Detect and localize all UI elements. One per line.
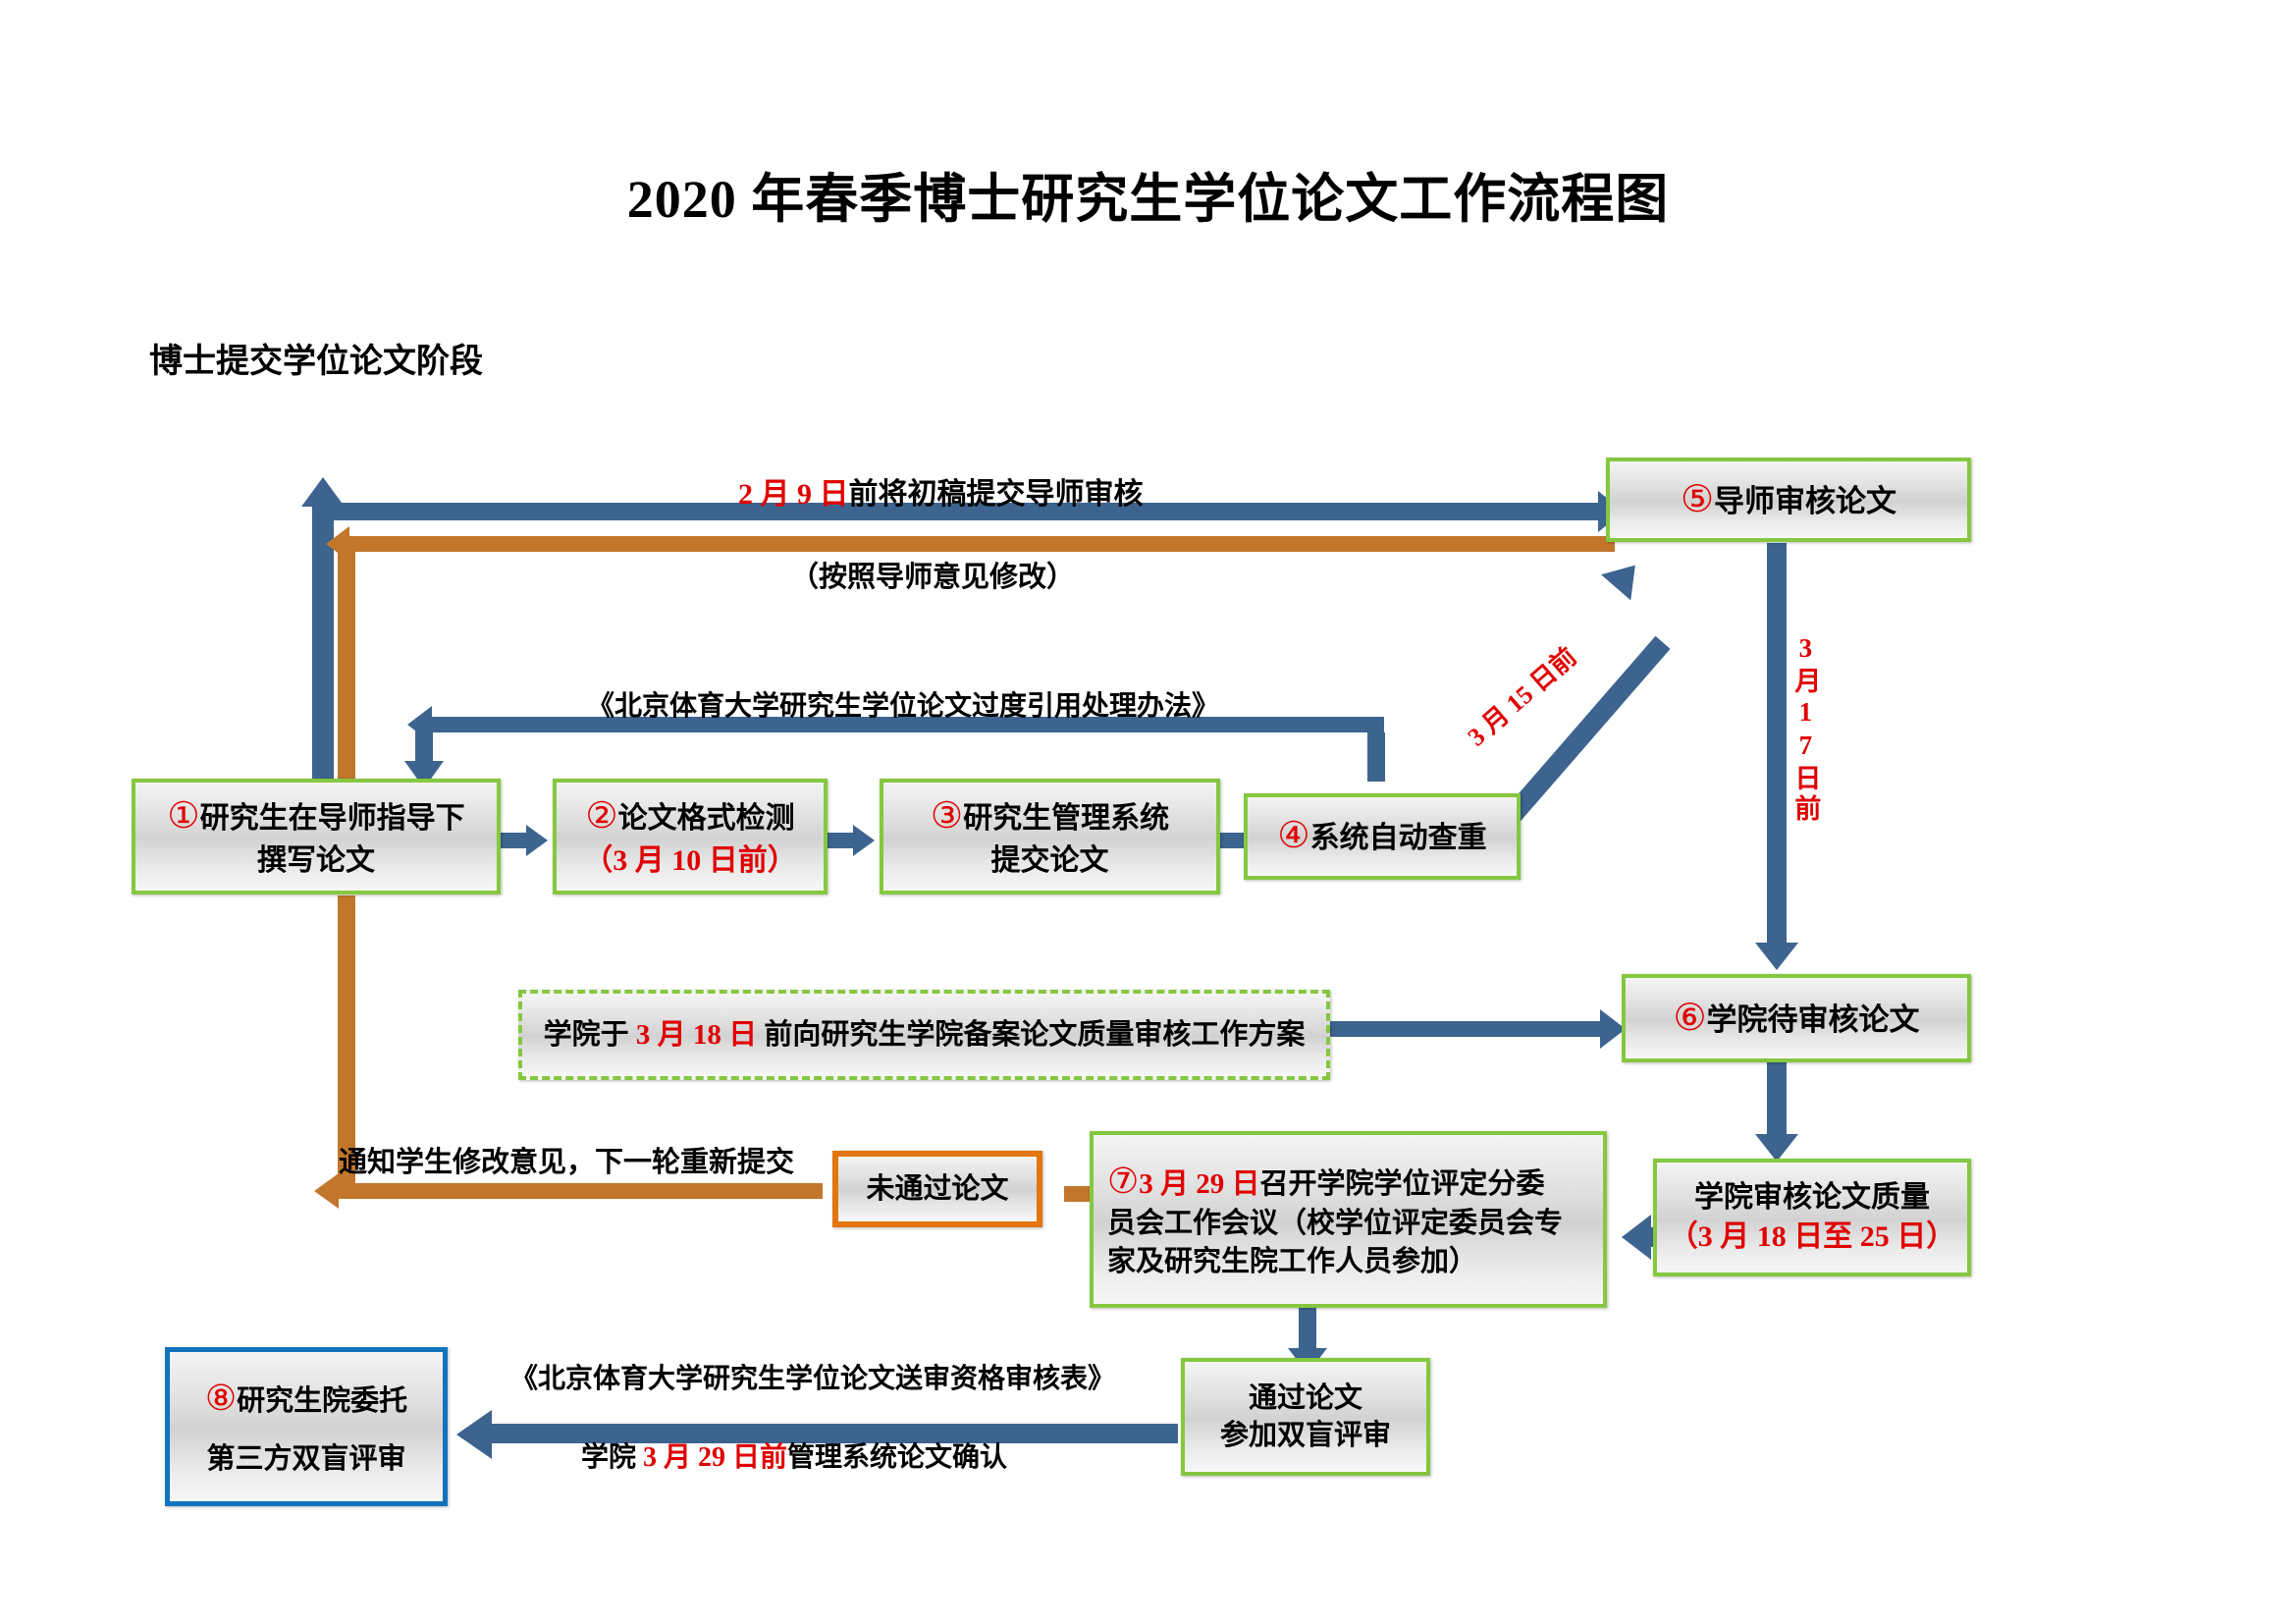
node-8-marker: ⑧ xyxy=(205,1379,237,1418)
node-failed-thesis[interactable]: 未通过论文 xyxy=(832,1151,1042,1227)
node-8-label-1: 研究生院委托 xyxy=(237,1385,407,1417)
node-7-line1: ⑦3 月 29 日召开学院学位评定分委 xyxy=(1107,1159,1545,1206)
arrow-n6-to-quality-head xyxy=(1755,1134,1798,1162)
node-7-line2: 员会工作会议（校学位评定委员会专 xyxy=(1107,1205,1563,1242)
node-passed-line2: 参加双盲评审 xyxy=(1220,1417,1391,1454)
node-1-label-1: 研究生在导师指导下 xyxy=(200,802,465,835)
label-review-form: 《北京体育大学研究生学位论文送审资格审核表》 xyxy=(510,1357,1115,1396)
label-mar17-deadline: 3月17日前 xyxy=(1791,633,1819,825)
node-filing-post: 前向研究生学院备案论文质量审核工作方案 xyxy=(757,1019,1305,1051)
node-passed-line1: 通过论文 xyxy=(1249,1380,1362,1417)
arrow-advisor-revise-horizontal xyxy=(348,536,1615,552)
node-1-marker: ① xyxy=(167,796,199,837)
node-5-text: ⑤导师审核论文 xyxy=(1681,475,1896,524)
node-3-marker: ③ xyxy=(931,796,963,837)
arrow-failed-to-n1-head xyxy=(314,1173,339,1209)
node-2-label-1: 论文格式检测 xyxy=(618,802,795,835)
node-filing-plan[interactable]: 学院于 3 月 18 日 前向研究生学院备案论文质量审核工作方案 xyxy=(518,990,1330,1080)
node-failed-label: 未通过论文 xyxy=(866,1170,1008,1208)
arrow-n5-to-n6-head xyxy=(1755,943,1798,970)
node-filing-date: 3 月 18 日 xyxy=(636,1019,757,1051)
node-7-date: 3 月 29 日 xyxy=(1139,1168,1259,1200)
node-1-line1: ①研究生在导师指导下 xyxy=(167,793,464,841)
node-4-label: 系统自动查重 xyxy=(1310,822,1487,854)
node-6-label: 学院待审核论文 xyxy=(1707,1002,1920,1037)
arrow-passed-to-n8-head xyxy=(456,1410,492,1459)
node-7-line3: 家及研究生院工作人员参加） xyxy=(1107,1243,1477,1280)
arrow-n5-to-n6-shaft xyxy=(1767,543,1787,953)
node-filing-pre: 学院于 xyxy=(544,1019,636,1051)
flowchart-canvas: 2020 年春季博士研究生学位论文工作流程图 博士提交学位论文阶段 xyxy=(0,0,2296,1624)
node-2-format-check[interactable]: ②论文格式检测 （3 月 10 日前） xyxy=(553,779,828,894)
arrow-n2-to-n3-head xyxy=(853,825,875,856)
arrow-over-citation-riser xyxy=(1367,732,1385,782)
node-2-deadline: （3 月 10 日前） xyxy=(583,841,797,881)
arrow-over-citation-dropline xyxy=(415,727,433,766)
node-3-line2: 提交论文 xyxy=(991,841,1109,881)
arrow-blue-left-uphead xyxy=(301,477,345,507)
node-6-marker: ⑥ xyxy=(1673,998,1706,1039)
label-confirm-pre: 学院 xyxy=(581,1442,643,1473)
arrow-failed-to-n1-horizontal xyxy=(338,1183,823,1199)
arrow-n1-to-n2-shaft xyxy=(501,833,528,848)
node-4-text: ④系统自动查重 xyxy=(1277,813,1486,861)
node-8-line1: ⑧研究生院委托 xyxy=(205,1376,407,1423)
node-7-committee-meeting[interactable]: ⑦3 月 29 日召开学院学位评定分委 员会工作会议（校学位评定委员会专 家及研… xyxy=(1090,1131,1607,1308)
node-7-marker: ⑦ xyxy=(1107,1162,1139,1201)
node-3-line1: ③研究生管理系统 xyxy=(931,793,1169,841)
label-mar15-deadline: 3 月 15 日前 xyxy=(1459,638,1583,753)
node-8-blind-review[interactable]: ⑧研究生院委托 第三方双盲评审 xyxy=(165,1347,448,1506)
node-1-line2: 撰写论文 xyxy=(257,841,375,881)
node-passed-thesis[interactable]: 通过论文 参加双盲评审 xyxy=(1181,1358,1430,1476)
arrow-n2-to-n3-shaft xyxy=(828,833,855,848)
arrow-n4-to-n5-head xyxy=(1601,553,1650,601)
arrow-n1-to-n2-head xyxy=(526,825,548,856)
node-2-line1: ②论文格式检测 xyxy=(585,793,794,841)
node-2-marker: ② xyxy=(585,796,617,837)
arrow-n7-to-failed-shaft xyxy=(1064,1186,1090,1202)
node-5-advisor-review[interactable]: ⑤导师审核论文 xyxy=(1606,458,1971,542)
label-submit-draft-date: 2 月 9 日 xyxy=(738,478,849,511)
node-filing-text: 学院于 3 月 18 日 前向研究生学院备案论文质量审核工作方案 xyxy=(544,1016,1306,1054)
section-subtitle: 博士提交学位论文阶段 xyxy=(149,334,483,382)
node-4-marker: ④ xyxy=(1277,816,1309,856)
label-submit-draft-rest: 前将初稿提交导师审核 xyxy=(849,478,1144,511)
arrow-filing-to-n6-shaft xyxy=(1330,1021,1606,1037)
node-quality-line2: （3 月 18 日至 25 日） xyxy=(1669,1218,1956,1257)
label-confirm-date: 3 月 29 日前 xyxy=(643,1442,787,1473)
node-5-label: 导师审核论文 xyxy=(1714,484,1896,518)
label-confirm-deadline: 学院 3 月 29 日前管理系统论文确认 xyxy=(581,1435,1007,1475)
node-3-label-1: 研究生管理系统 xyxy=(963,802,1169,835)
page-title: 2020 年春季博士研究生学位论文工作流程图 xyxy=(0,155,2296,233)
node-4-auto-plagiarism[interactable]: ④系统自动查重 xyxy=(1244,793,1521,880)
arrow-advisor-revise-vertical xyxy=(338,546,355,780)
node-1-write-thesis[interactable]: ①研究生在导师指导下 撰写论文 xyxy=(132,779,501,894)
label-confirm-post: 管理系统论文确认 xyxy=(787,1442,1007,1473)
label-over-citation: 《北京体育大学研究生学位论文过度引用处理办法》 xyxy=(587,684,1219,724)
arrow-n6-to-quality-shaft xyxy=(1767,1062,1787,1143)
node-6-college-pending[interactable]: ⑥学院待审核论文 xyxy=(1622,974,1971,1062)
label-submit-draft: 2 月 9 日前将初稿提交导师审核 xyxy=(738,469,1144,513)
node-8-line2: 第三方双盲评审 xyxy=(206,1440,405,1478)
node-quality-line1: 学院审核论文质量 xyxy=(1694,1178,1930,1218)
node-3-submit-system[interactable]: ③研究生管理系统 提交论文 xyxy=(880,779,1220,894)
node-5-marker: ⑤ xyxy=(1681,479,1714,520)
node-7-line1-rest: 召开学院学位评定分委 xyxy=(1260,1168,1545,1200)
node-6-text: ⑥学院待审核论文 xyxy=(1673,994,1919,1043)
arrow-quality-to-n7-head xyxy=(1622,1215,1651,1260)
label-notify-student: 通知学生修改意见，下一轮重新提交 xyxy=(339,1139,794,1180)
label-advisor-revise: （按照导师意见修改） xyxy=(790,554,1075,595)
node-quality-review[interactable]: 学院审核论文质量 （3 月 18 日至 25 日） xyxy=(1653,1159,1971,1276)
